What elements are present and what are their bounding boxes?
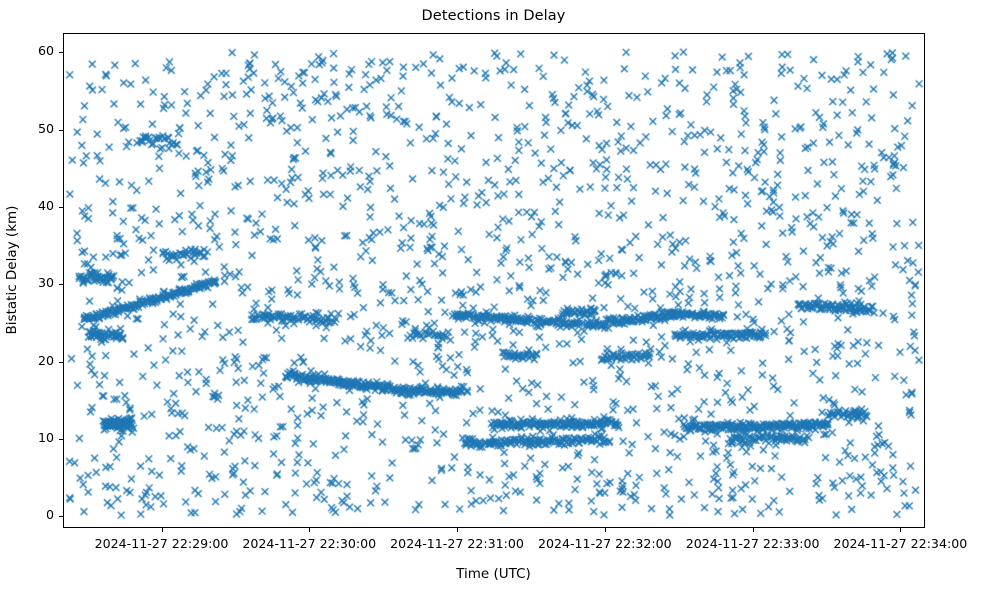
y-tick-mark <box>59 516 63 517</box>
x-axis-tick: 2024-11-27 22:31:00 <box>457 528 458 529</box>
x-tick-mark <box>900 528 901 532</box>
y-tick-label: 0 <box>46 507 54 522</box>
y-tick-label: 40 <box>38 198 54 213</box>
y-tick-label: 30 <box>38 275 54 290</box>
x-axis-tick: 2024-11-27 22:32:00 <box>605 528 606 529</box>
x-axis-tick: 2024-11-27 22:33:00 <box>753 528 754 529</box>
y-tick-label: 60 <box>38 43 54 58</box>
x-tick-label: 2024-11-27 22:34:00 <box>833 536 967 551</box>
y-tick-label: 20 <box>38 353 54 368</box>
x-tick-label: 2024-11-27 22:33:00 <box>686 536 820 551</box>
x-tick-mark <box>753 528 754 532</box>
y-tick-mark <box>59 52 63 53</box>
plot-axes-area <box>63 33 925 528</box>
x-tick-label: 2024-11-27 22:30:00 <box>242 536 376 551</box>
x-tick-label: 2024-11-27 22:32:00 <box>538 536 672 551</box>
x-axis-tick: 2024-11-27 22:30:00 <box>309 528 310 529</box>
y-tick-label: 50 <box>38 121 54 136</box>
y-tick-mark <box>59 207 63 208</box>
chart-title: Detections in Delay <box>0 8 987 24</box>
y-tick-mark <box>59 362 63 363</box>
y-tick-label: 10 <box>38 430 54 445</box>
x-tick-mark <box>309 528 310 532</box>
x-tick-label: 2024-11-27 22:31:00 <box>390 536 524 551</box>
x-tick-mark <box>162 528 163 532</box>
x-axis-tick: 2024-11-27 22:29:00 <box>162 528 163 529</box>
x-axis-label: Time (UTC) <box>0 566 987 582</box>
matplotlib-figure: Detections in Delay 0102030405060 2024-1… <box>0 0 987 590</box>
y-axis-label: Bistatic Delay (km) <box>4 20 20 520</box>
y-tick-mark <box>59 439 63 440</box>
x-tick-mark <box>605 528 606 532</box>
x-tick-label: 2024-11-27 22:29:00 <box>95 536 229 551</box>
x-axis-tick: 2024-11-27 22:34:00 <box>900 528 901 529</box>
scatter-plot-canvas <box>64 34 925 528</box>
y-tick-mark <box>59 284 63 285</box>
x-tick-mark <box>457 528 458 532</box>
y-tick-mark <box>59 130 63 131</box>
